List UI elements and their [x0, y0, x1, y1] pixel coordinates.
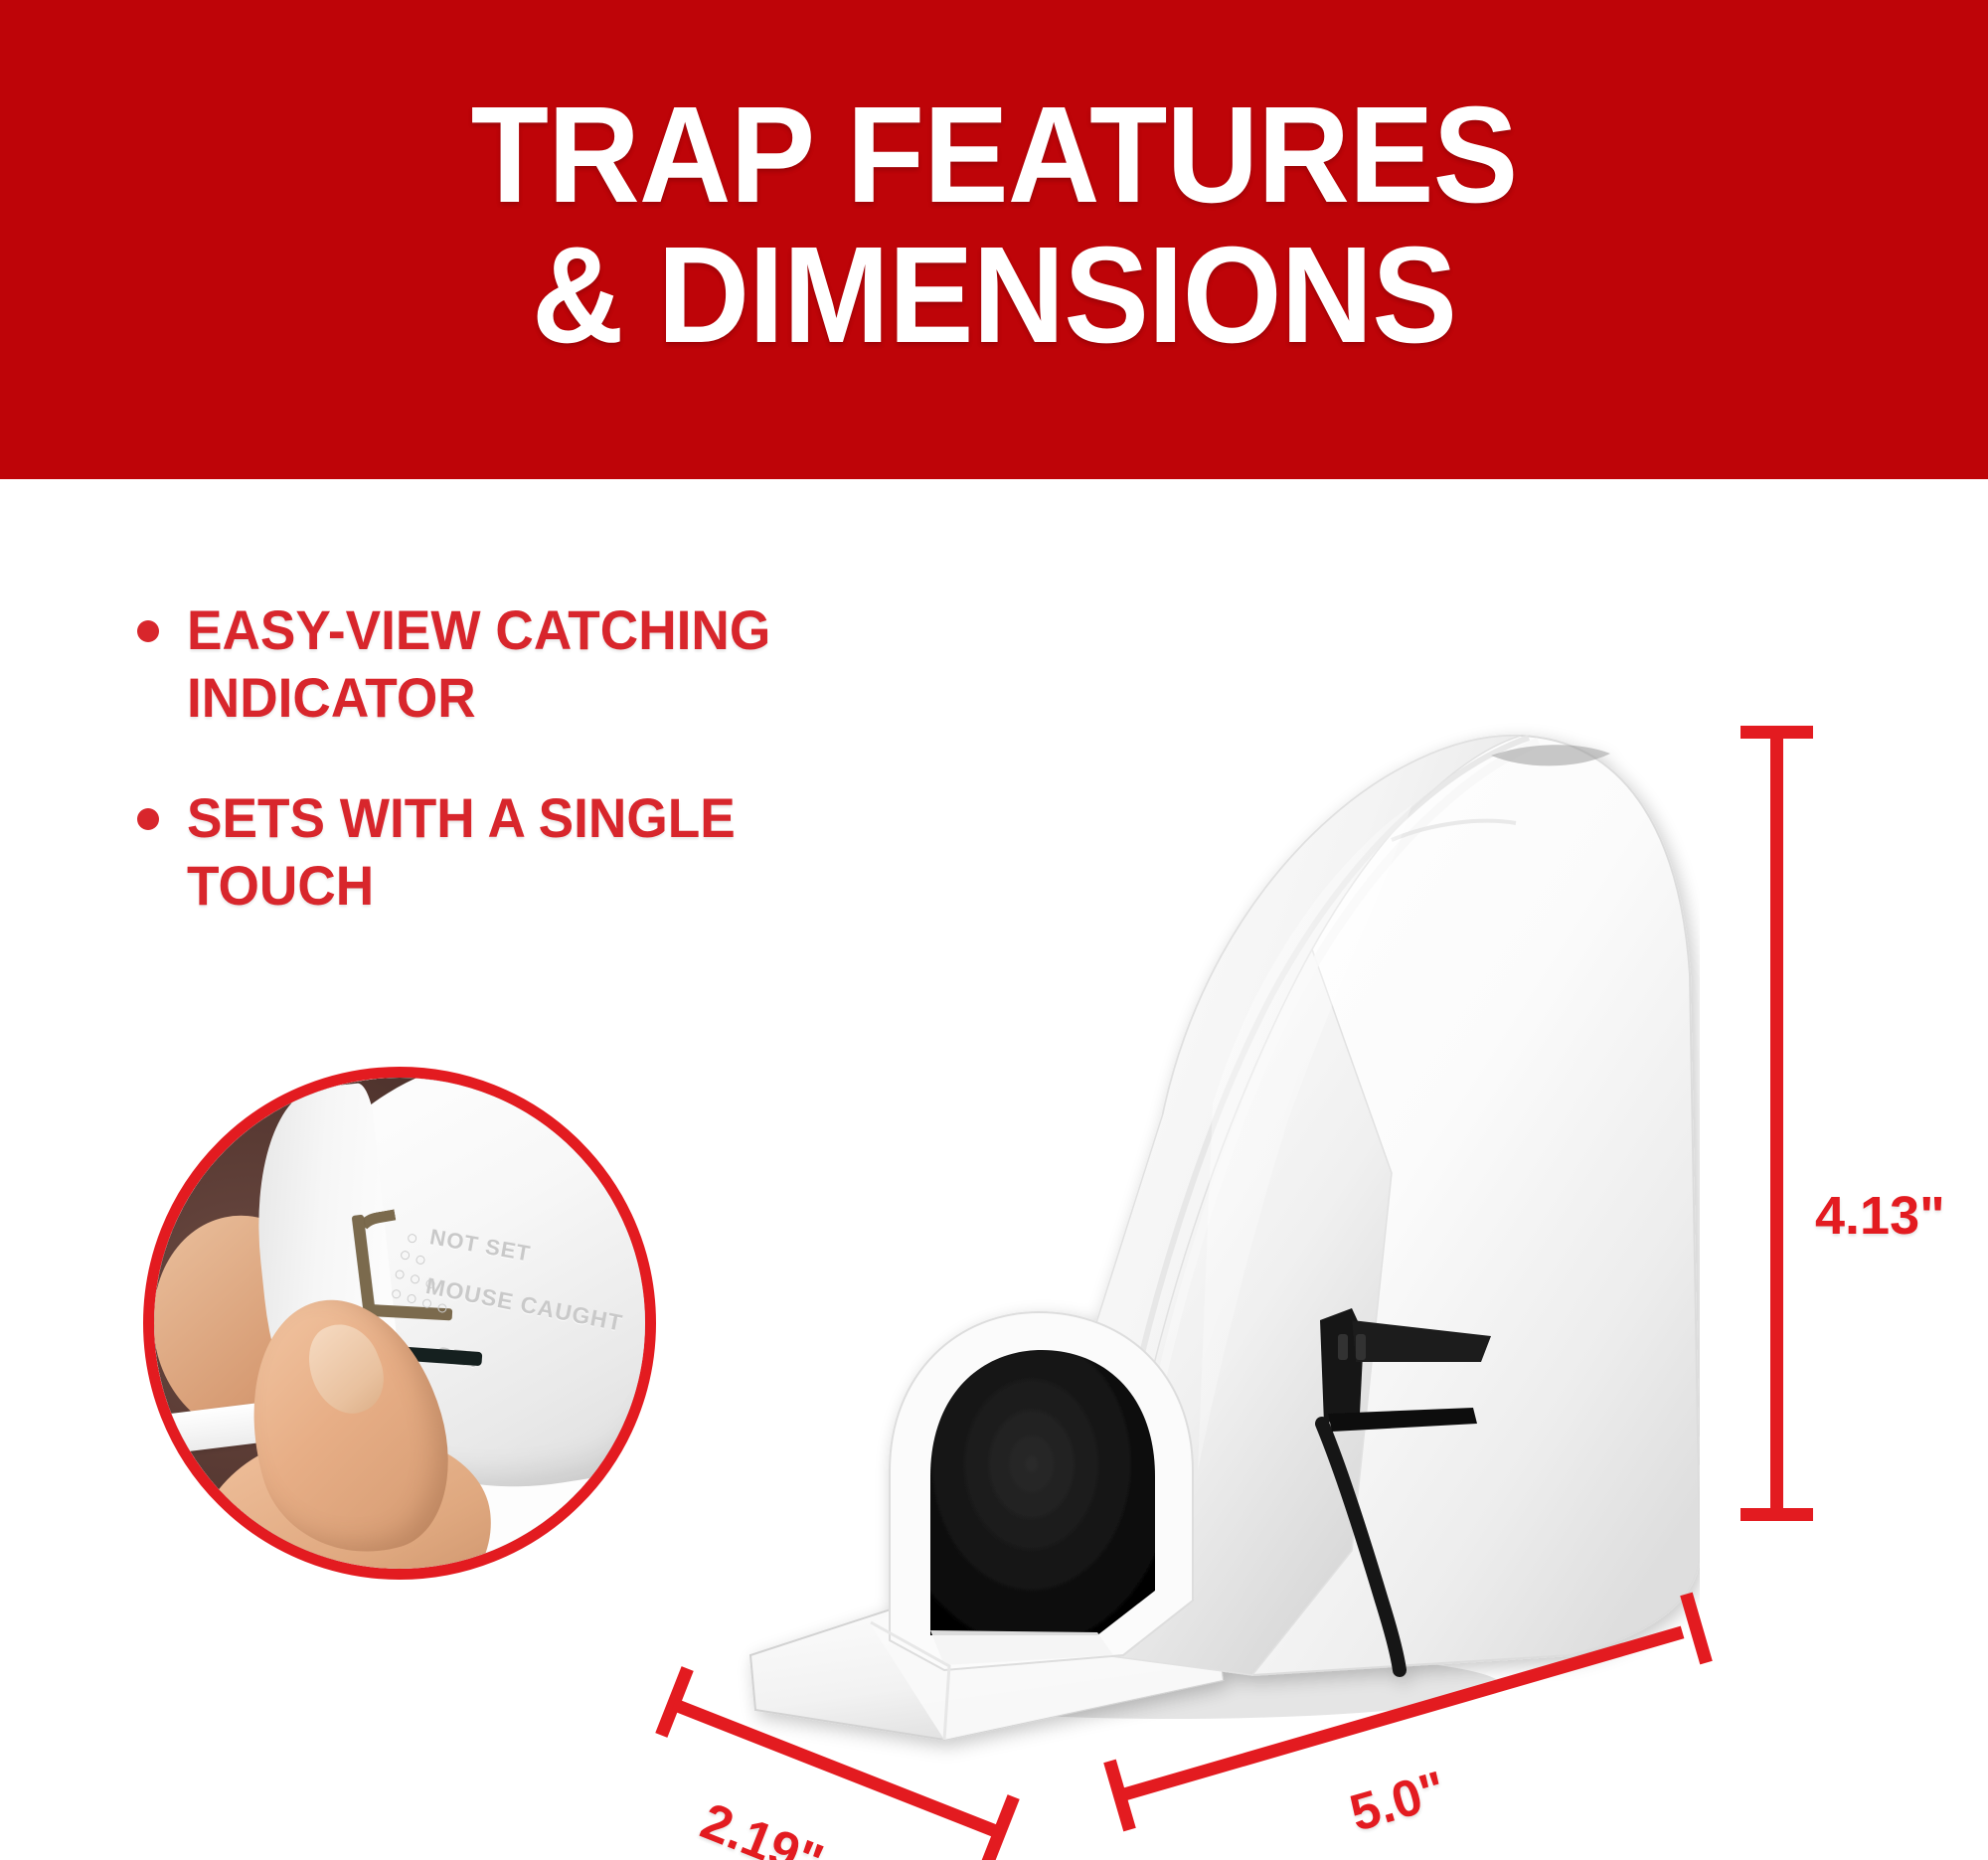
- product-photo-mouse-trap: [696, 676, 1700, 1770]
- dimension-width-label: 5.0": [1344, 1760, 1453, 1844]
- page-title-line-1: TRAP FEATURES: [70, 85, 1918, 226]
- dimension-depth-label: 2.19": [693, 1791, 831, 1860]
- page-title: TRAP FEATURES & DIMENSIONS: [70, 85, 1918, 366]
- dimension-height-cap-bottom: [1740, 1508, 1813, 1521]
- inset-photo-indicator-closeup: NOT SET MOUSE CAUGHT SET: [143, 1067, 656, 1580]
- header-banner: TRAP FEATURES & DIMENSIONS: [0, 0, 1988, 479]
- trap-tunnel-opening: [930, 1350, 1155, 1635]
- page-title-line-2: & DIMENSIONS: [70, 226, 1918, 366]
- bullet-dot-icon: [137, 620, 159, 642]
- infographic-page: TRAP FEATURES & DIMENSIONS EASY-VIEW CAT…: [0, 0, 1988, 1860]
- bullet-dot-icon: [137, 808, 159, 830]
- dimension-height-label: 4.13": [1815, 1185, 1945, 1247]
- inset-photo-image: NOT SET MOUSE CAUGHT SET: [154, 1078, 645, 1569]
- dimension-height-line: [1770, 726, 1783, 1521]
